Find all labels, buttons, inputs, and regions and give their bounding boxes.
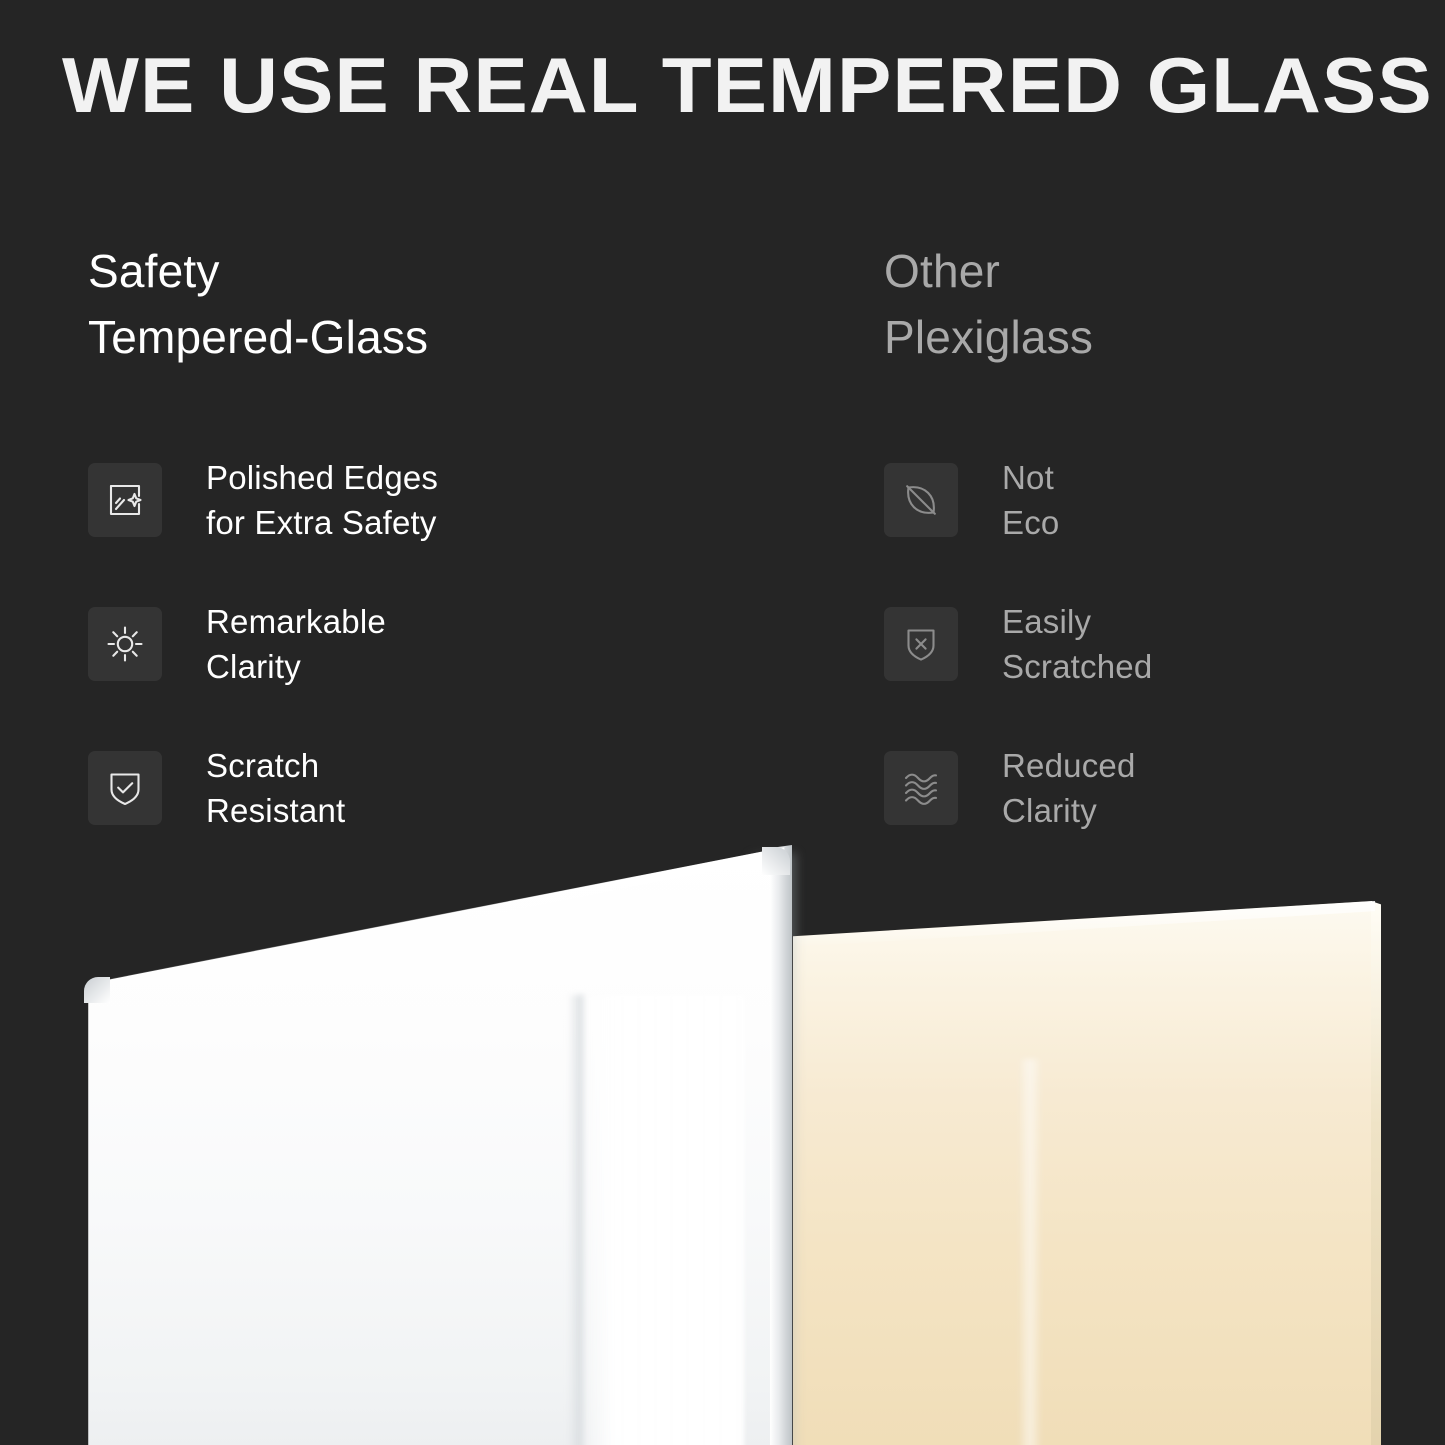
feature-easily-scratched: Easily Scratched <box>884 594 1404 694</box>
feature-label: Remarkable Clarity <box>206 599 386 689</box>
column-safety-tempered-glass: Safety Tempered-Glass Polished Edges for… <box>88 238 848 370</box>
shield-x-icon <box>884 607 958 681</box>
tempered-glass-corner-top-left <box>84 977 110 1003</box>
feature-list-left: Polished Edges for Extra Safety Remarkab… <box>88 450 848 838</box>
sun-brightness-icon <box>88 607 162 681</box>
column-heading-right: Other Plexiglass <box>884 238 1404 370</box>
tempered-glass-corner-top-right <box>762 847 790 875</box>
feature-label: Easily Scratched <box>1002 599 1152 689</box>
plexiglass-panel-edge <box>1371 901 1381 1445</box>
feature-scratch-resistant: Scratch Resistant <box>88 738 848 838</box>
feature-label: Reduced Clarity <box>1002 743 1136 833</box>
feature-polished-edges: Polished Edges for Extra Safety <box>88 450 848 550</box>
page-title: WE USE REAL TEMPERED GLASS <box>62 42 1445 128</box>
product-image <box>0 845 1445 1445</box>
plexiglass-panel-reflection <box>1018 1059 1042 1445</box>
wavy-lines-distortion-icon <box>884 751 958 825</box>
column-other-plexiglass: Other Plexiglass Not Eco <box>884 238 1404 370</box>
feature-remarkable-clarity: Remarkable Clarity <box>88 594 848 694</box>
feature-reduced-clarity: Reduced Clarity <box>884 738 1404 838</box>
polished-glass-sparkle-icon <box>88 463 162 537</box>
feature-not-eco: Not Eco <box>884 450 1404 550</box>
tempered-glass-reflection <box>576 995 744 1445</box>
feature-label: Polished Edges for Extra Safety <box>206 455 438 545</box>
feature-label: Scratch Resistant <box>206 743 345 833</box>
plexiglass-panel <box>793 901 1378 1445</box>
column-heading-left: Safety Tempered-Glass <box>88 238 848 370</box>
leaf-slash-not-eco-icon <box>884 463 958 537</box>
feature-list-right: Not Eco Easily Scratched <box>884 450 1404 838</box>
feature-label: Not Eco <box>1002 455 1059 545</box>
infographic-canvas: WE USE REAL TEMPERED GLASS Safety Temper… <box>0 0 1445 1445</box>
tempered-glass-panel-edge <box>770 845 792 1445</box>
shield-check-icon <box>88 751 162 825</box>
